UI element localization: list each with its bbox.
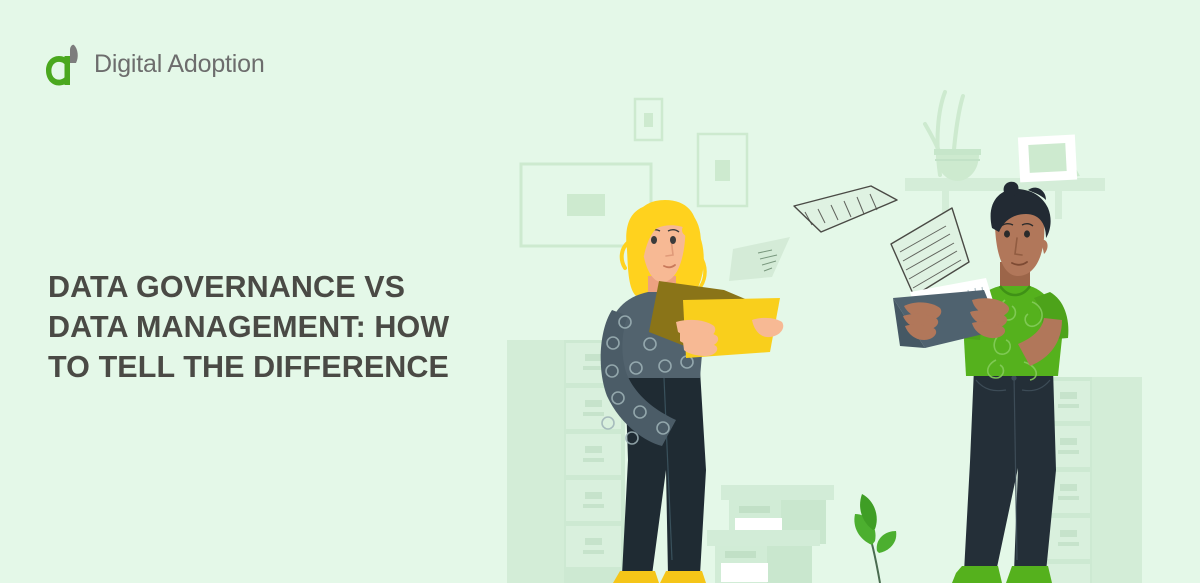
page-title: DATA GOVERNANCE VS DATA MANAGEMENT: HOW … (48, 267, 478, 387)
logo[interactable]: Digital Adoption (45, 42, 265, 86)
logo-text: Digital Adoption (94, 50, 265, 79)
headline-line-2: DATA MANAGEMENT: HOW (48, 307, 478, 347)
storage-box-lower-icon (707, 530, 820, 583)
headline-line-1: DATA GOVERNANCE VS (48, 267, 478, 307)
man-shoe-right (1006, 566, 1052, 583)
banner-root: Digital Adoption DATA GOVERNANCE VS DATA… (0, 0, 1200, 583)
framed-photo-on-shelf-icon (1018, 135, 1080, 183)
woman-shoe-left (613, 571, 659, 583)
headline-line-3: TO TELL THE DIFFERENCE (48, 347, 478, 387)
digital-adoption-a-leaf-logo-icon (45, 42, 85, 86)
woman-shoe-right (660, 571, 706, 583)
